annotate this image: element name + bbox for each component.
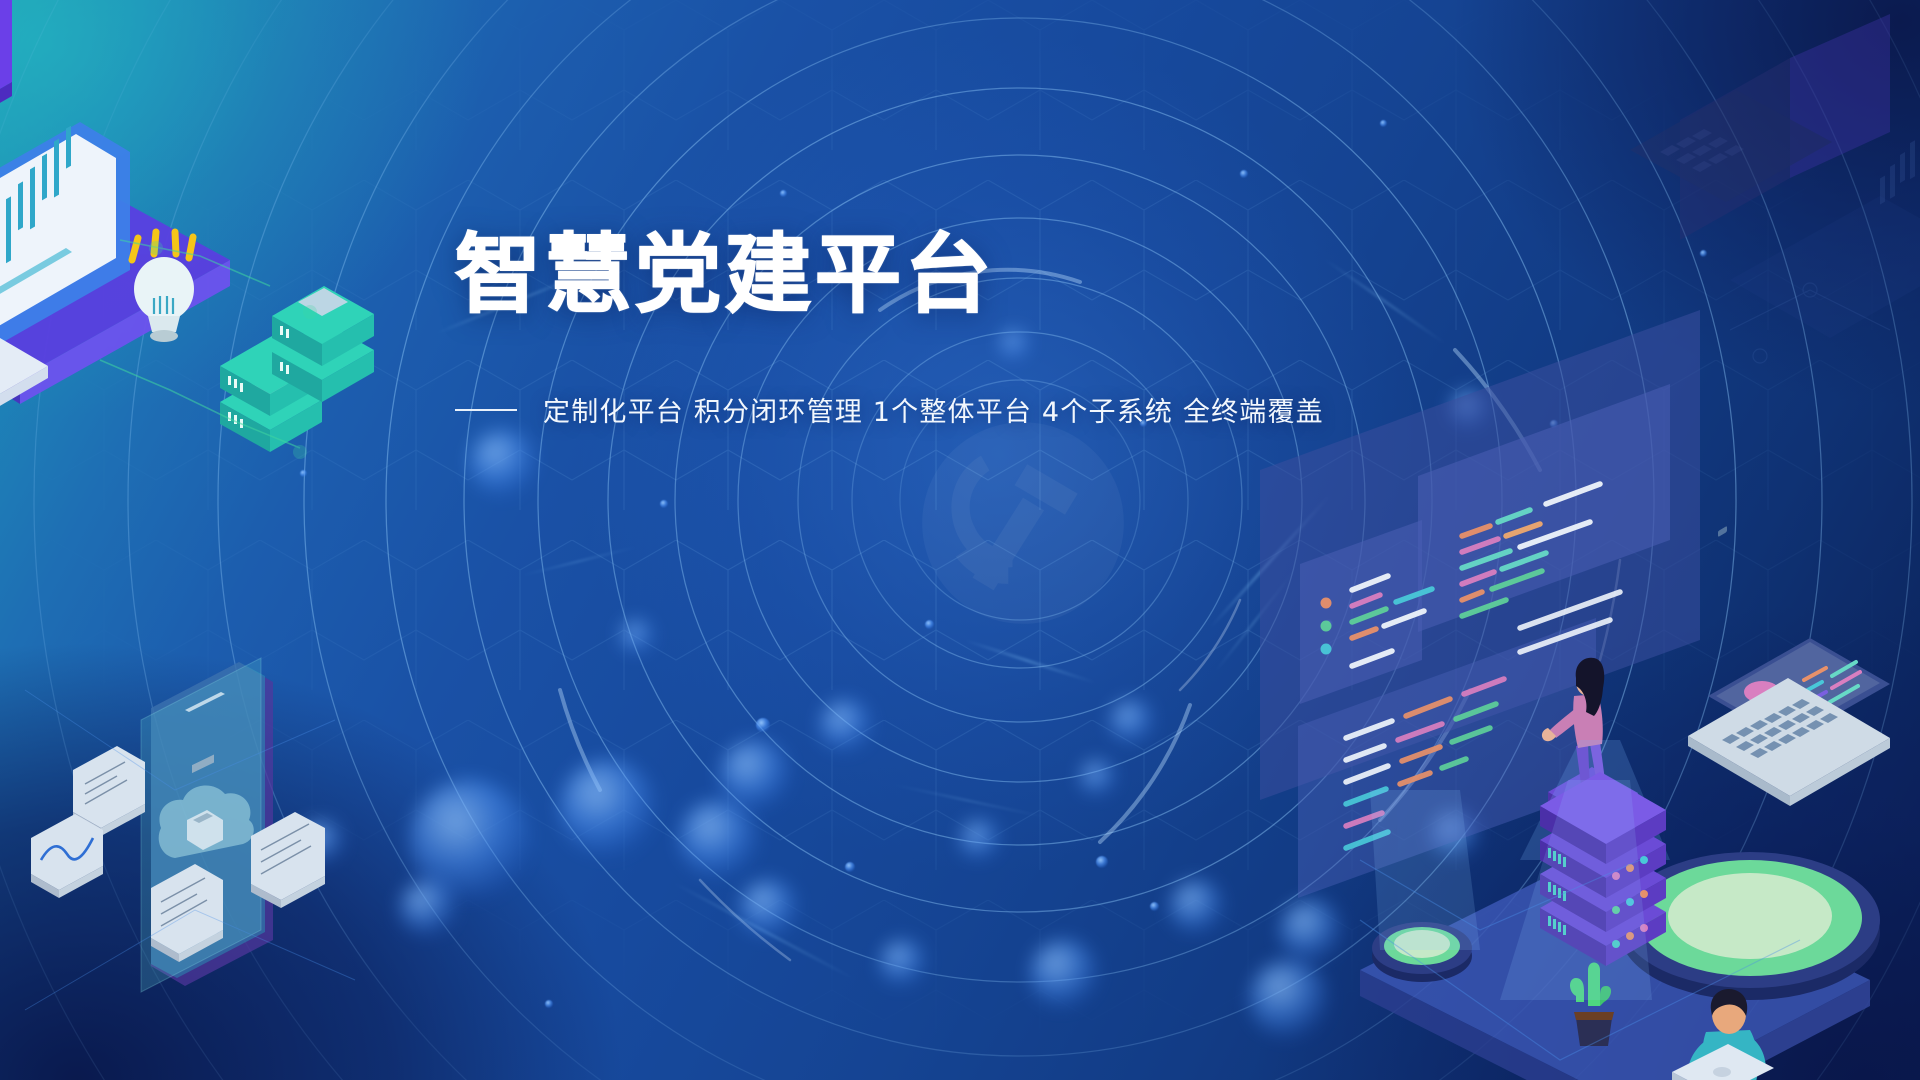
subtitle-dash-rule [455, 409, 517, 411]
illustration-desktop-analytics [0, 60, 390, 490]
subtitle-text: 定制化平台 积分闭环管理 1个整体平台 4个子系统 全终端覆盖 [543, 390, 1324, 429]
illustration-data-platform [1440, 820, 1920, 1080]
page-title: 智慧党建平台 [455, 232, 1555, 318]
cpc-party-emblem-watermark [918, 418, 1128, 628]
hero-text-block: 智慧党建平台 定制化平台 积分闭环管理 1个整体平台 4个子系统 全终端覆盖 [455, 232, 1555, 429]
illustration-faint-chart-panel [1770, 180, 1920, 380]
banner-root: 智慧党建平台 定制化平台 积分闭环管理 1个整体平台 4个子系统 全终端覆盖 [0, 0, 1920, 1080]
subtitle-row: 定制化平台 积分闭环管理 1个整体平台 4个子系统 全终端覆盖 [455, 390, 1555, 429]
illustration-smartphone-cloud [55, 680, 385, 1080]
